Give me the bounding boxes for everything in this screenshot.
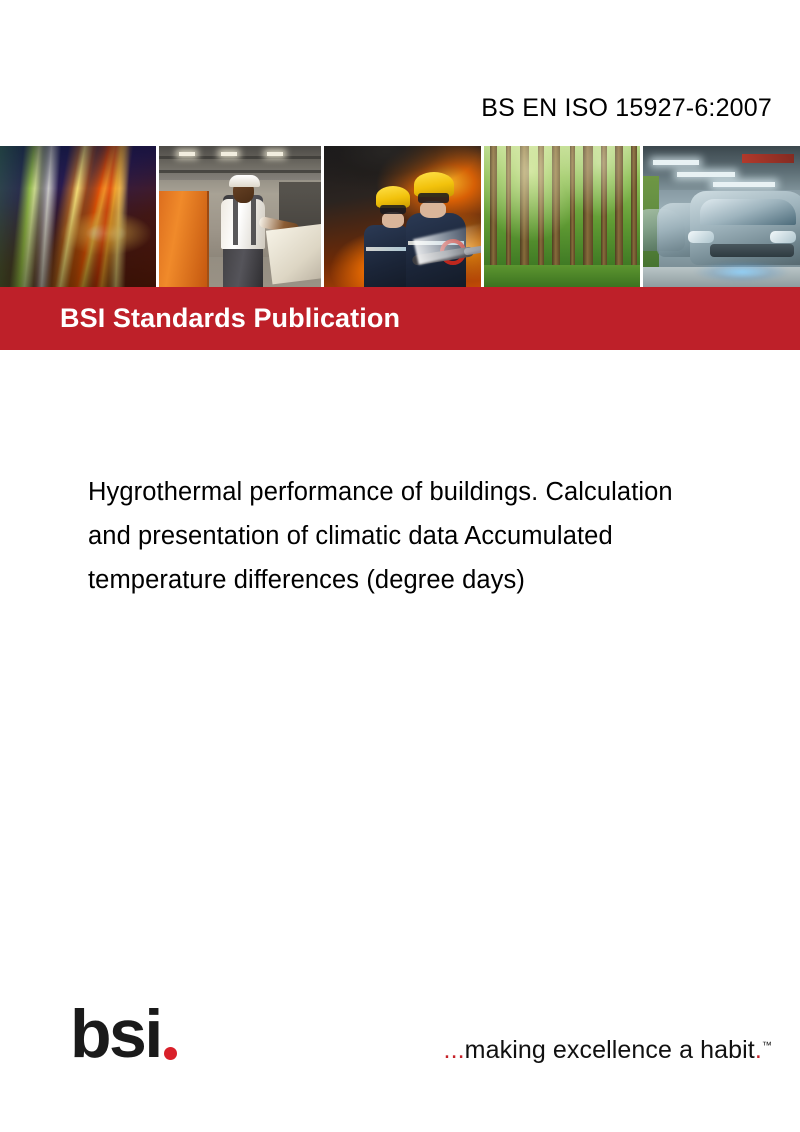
firefighter-face (420, 201, 446, 218)
firefighters-image (324, 146, 480, 287)
car-headlight (770, 231, 796, 243)
document-title: Hygrothermal performance of buildings. C… (88, 470, 800, 602)
warehouse-beam (159, 170, 321, 173)
tagline-period: . (755, 1036, 762, 1064)
worker-cap (229, 175, 260, 187)
photo-panel-warehouse-worker (159, 146, 321, 287)
night-traffic-image (0, 146, 156, 287)
warehouse-crate (159, 191, 209, 287)
warehouse-lamp (267, 152, 283, 156)
title-line-3: temperature differences (degree days) (88, 558, 800, 602)
bsi-tagline: ...making excellence a habit.™ (444, 1036, 772, 1065)
bsi-standards-publication-banner: BSI Standards Publication (0, 287, 800, 350)
warehouse-lamp (179, 152, 195, 156)
firefighter-visor (418, 193, 449, 203)
worker-strap (251, 199, 256, 245)
title-line-2: and presentation of climatic data Accumu… (88, 514, 800, 558)
worker-strap (233, 199, 238, 245)
reflective-stripe (366, 247, 410, 251)
title-line-1: Hygrothermal performance of buildings. C… (88, 470, 800, 514)
photo-panel-firefighters (324, 146, 480, 287)
forest-floor (484, 265, 640, 287)
trademark-icon: ™ (762, 1041, 772, 1052)
car-headlight (688, 231, 714, 243)
factory-red-fixture (742, 154, 794, 163)
forest-image (484, 146, 640, 287)
banner-label: BSI Standards Publication (60, 303, 400, 334)
photo-panel-car-assembly-line (643, 146, 800, 287)
photo-panel-night-traffic-light-trails (0, 146, 156, 287)
factory-light (713, 182, 775, 187)
car-assembly-image (643, 146, 800, 287)
warehouse-box (266, 224, 321, 285)
bsi-logo-wordmark: bsi (70, 1003, 161, 1066)
tagline-text: making excellence a habit (465, 1036, 755, 1064)
factory-light (653, 160, 699, 165)
car-grille (710, 244, 794, 257)
assembly-line-glow (694, 261, 790, 283)
standard-number: BS EN ISO 15927-6:2007 (481, 94, 772, 123)
bsi-logo: bsi (70, 1000, 177, 1066)
cover-page: BS EN ISO 15927-6:2007 (0, 0, 800, 1132)
bsi-logo-dot-icon (164, 1047, 177, 1060)
cover-photo-strip (0, 146, 800, 287)
firefighter-visor (380, 205, 406, 214)
firefighter-face (382, 212, 404, 228)
warehouse-worker-image (159, 146, 321, 287)
tagline-ellipsis: ... (444, 1036, 465, 1064)
factory-light (677, 172, 735, 177)
photo-panel-conifer-forest (484, 146, 640, 287)
warehouse-lamp (221, 152, 237, 156)
car-windshield (700, 199, 796, 225)
warehouse-beam (159, 156, 321, 159)
firefighter-coat (364, 225, 412, 287)
